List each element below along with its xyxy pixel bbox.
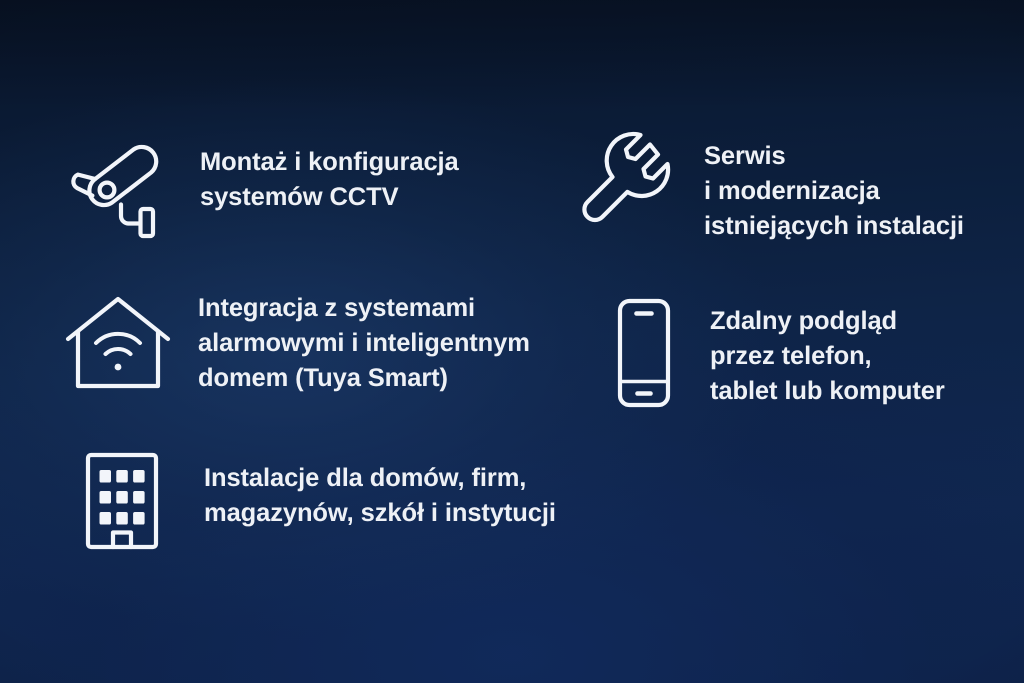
feature-item-scope: Instalacje dla domów, firm, magazynów, s… [74,450,556,550]
feature-item-smart-home: Integracja z systemami alarmowymi i inte… [60,292,530,396]
cctv-camera-icon [64,138,172,230]
feature-item-cctv: Montaż i konfiguracja systemów CCTV [64,138,459,230]
feature-label-remote-view: Zdalny podgląd przez telefon, tablet lub… [710,304,945,409]
feature-item-remote-view: Zdalny podgląd przez telefon, tablet lub… [594,296,945,410]
feature-item-service: Serwis i modernizacja istniejących insta… [572,126,964,244]
smart-home-wifi-icon [60,292,176,394]
feature-label-smart-home: Integracja z systemami alarmowymi i inte… [198,291,530,396]
office-building-icon [74,450,170,550]
feature-label-service: Serwis i modernizacja istniejących insta… [704,139,964,244]
feature-label-scope: Instalacje dla domów, firm, magazynów, s… [204,461,556,531]
smartphone-icon [594,296,694,410]
feature-list-slide: Montaż i konfiguracja systemów CCTV Serw… [0,0,1024,683]
wrench-icon [572,126,676,236]
feature-label-cctv: Montaż i konfiguracja systemów CCTV [200,145,459,215]
